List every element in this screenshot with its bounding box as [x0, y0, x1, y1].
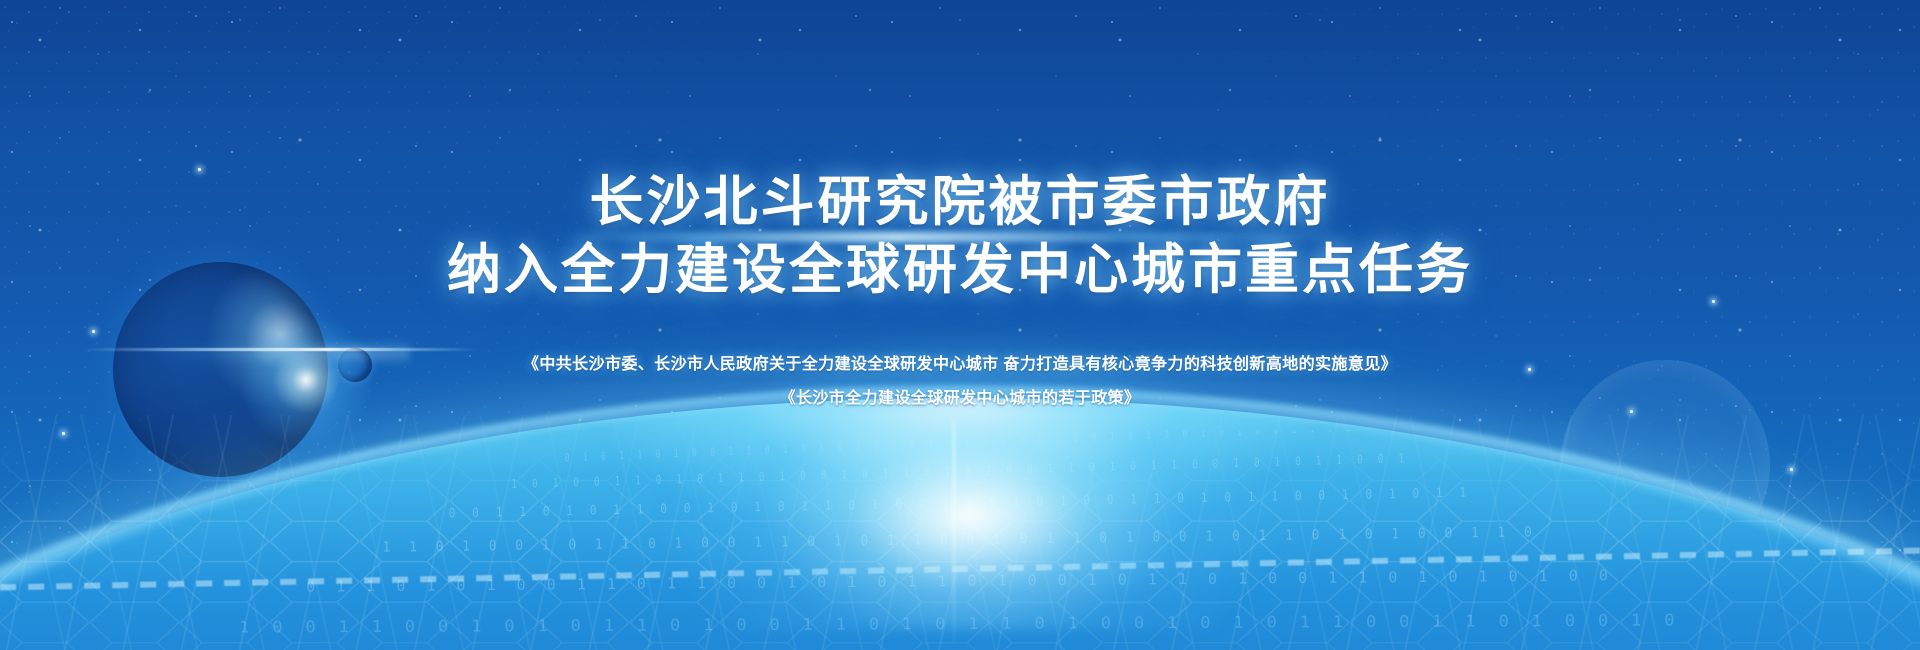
- title-line-2: 纳入全力建设全球研发中心城市重点任务: [0, 236, 1920, 304]
- subtitle-line-1: 《中共长沙市委、长沙市人民政府关于全力建设全球研发中心城市 奋力打造具有核心竟争…: [0, 348, 1920, 382]
- title-line-1: 长沙北斗研究院被市委市政府: [0, 168, 1920, 236]
- subtitle-line-2: 《长沙市全力建设全球研发中心城市的若于政策》: [0, 382, 1920, 416]
- hero-banner: 0 1 0 1 1 0 1 0 0 1 1 0 1 0 1 0 1 1 0 0 …: [0, 0, 1920, 650]
- banner-subtitle: 《中共长沙市委、长沙市人民政府关于全力建设全球研发中心城市 奋力打造具有核心竟争…: [0, 348, 1920, 416]
- page-title: 长沙北斗研究院被市委市政府 纳入全力建设全球研发中心城市重点任务: [0, 168, 1920, 304]
- banner-content: 长沙北斗研究院被市委市政府 纳入全力建设全球研发中心城市重点任务 《中共长沙市委…: [0, 0, 1920, 650]
